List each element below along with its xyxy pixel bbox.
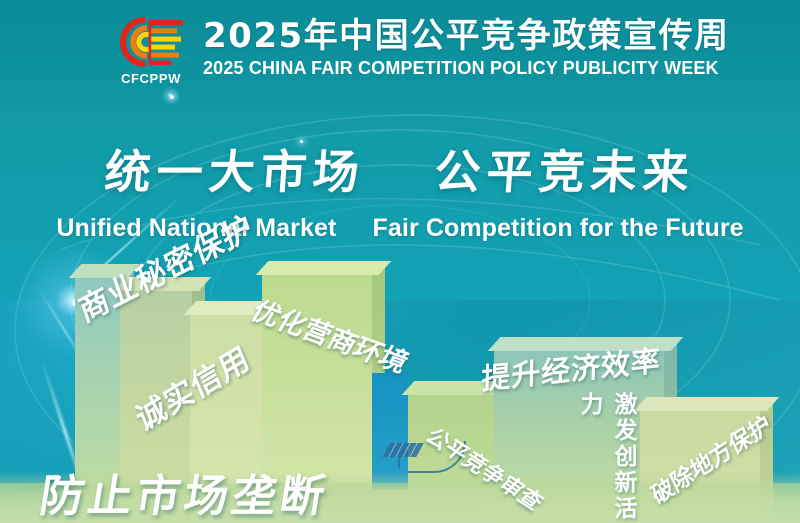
- headline-block: 统一大市场 公平竞未来 Unified National Market Fair…: [0, 136, 800, 243]
- header-title-cn: 2025年中国公平竞争政策宣传周: [203, 17, 735, 55]
- building-1-roof: [69, 264, 141, 278]
- building-8-roof: [634, 397, 780, 411]
- poster-header: CFCPPW 2025年中国公平竞争政策宣传周 2025 CHINA FAIR …: [0, 0, 800, 104]
- building-7-roof: [488, 337, 684, 351]
- cfcppw-arc-logo-icon: [115, 16, 187, 68]
- headline-en-part1: Unified National Market: [56, 214, 336, 242]
- headline-en: Unified National Market Fair Competition…: [0, 214, 800, 243]
- bottom-light-band: [0, 471, 800, 523]
- headline-en-part2: Fair Competition for the Future: [373, 214, 744, 242]
- building-2-roof: [114, 277, 212, 291]
- poster-canvas: CFCPPW 2025年中国公平竞争政策宣传周 2025 CHINA FAIR …: [0, 0, 800, 523]
- headline-cn-part1: 统一大市场: [103, 145, 367, 199]
- building-4-roof: [256, 261, 392, 275]
- headline-cn: 统一大市场 公平竞未来: [0, 136, 800, 202]
- header-title-en: 2025 CHINA FAIR COMPETITION POLICY PUBLI…: [203, 57, 719, 79]
- header-title-block: 2025年中国公平竞争政策宣传周 2025 CHINA FAIR COMPETI…: [203, 16, 735, 79]
- logo-acronym: CFCPPW: [121, 71, 181, 86]
- city-skyline: [0, 243, 800, 523]
- logo-block: CFCPPW: [113, 16, 189, 86]
- headline-cn-part2: 公平竞未来: [433, 145, 697, 199]
